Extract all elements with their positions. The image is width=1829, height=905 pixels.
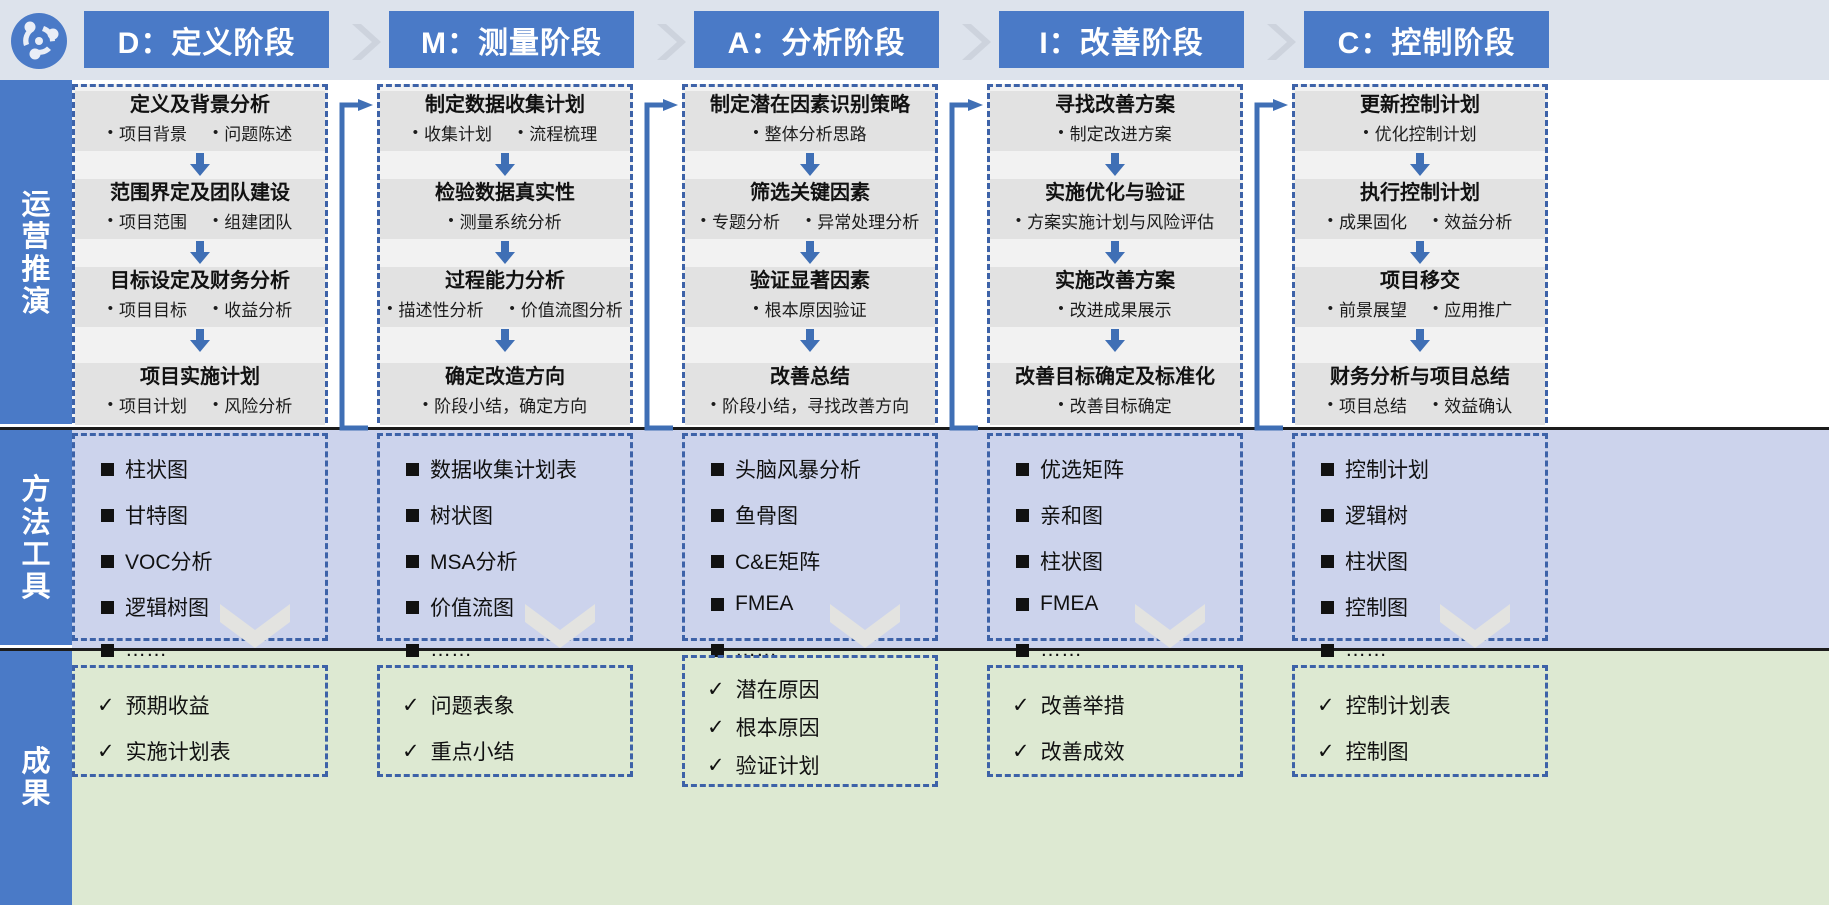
- check-icon: ✓: [707, 715, 725, 740]
- step-subitems: •项目总结•效益确认: [1295, 392, 1545, 417]
- step-subitems: •成果固化•效益分析: [1295, 208, 1545, 233]
- step-subitems: •阶段小结，确定方向: [380, 392, 630, 417]
- tool-label: 柱状图: [1040, 546, 1103, 576]
- square-bullet-icon: [1016, 509, 1029, 522]
- phase-chevron-separator: [649, 20, 685, 56]
- dmaic-roadmap: D：定义阶段 M：测量阶段 A：分析阶段 I：改善阶段 C：控制阶段运营推演方法…: [0, 0, 1829, 905]
- down-arrow-icon: [797, 241, 823, 270]
- tool-list-item[interactable]: 柱状图: [101, 454, 188, 484]
- bullet-dot-icon: •: [448, 213, 453, 228]
- down-arrow-icon: [1102, 241, 1128, 270]
- outcome-label: 实施计划表: [126, 736, 231, 766]
- outcome-list-item[interactable]: ✓问题表象: [402, 690, 515, 720]
- step-subitem-label: 问题陈述: [224, 120, 292, 145]
- step-subitem-label: 组建团队: [224, 208, 292, 233]
- step-subitem: •整体分析思路: [753, 120, 866, 145]
- tool-list-item[interactable]: 柱状图: [1016, 546, 1103, 576]
- step-subitem-label: 应用推广: [1444, 296, 1512, 321]
- tool-label: 柱状图: [125, 454, 188, 484]
- step-subitem: •成果固化: [1328, 208, 1407, 233]
- tool-list-item[interactable]: ……: [1016, 638, 1082, 662]
- bullet-dot-icon: •: [753, 125, 758, 140]
- step-subitem: •项目总结: [1328, 392, 1407, 417]
- row-label-methods-tools: 方法工具: [0, 430, 72, 648]
- square-bullet-icon: [101, 601, 114, 614]
- square-bullet-icon: [101, 644, 114, 657]
- down-arrow-icon: [492, 329, 518, 358]
- down-arrow-icon: [187, 329, 213, 358]
- outcome-label: 重点小结: [431, 736, 515, 766]
- step-subitem: •前景展望: [1328, 296, 1407, 321]
- step-subitem: •问题陈述: [213, 120, 292, 145]
- bullet-dot-icon: •: [108, 125, 113, 140]
- tool-list-item[interactable]: VOC分析: [101, 546, 213, 576]
- step-subitem-label: 整体分析思路: [765, 120, 867, 145]
- bullet-dot-icon: •: [1433, 301, 1438, 316]
- phase-chevron-separator: [1259, 20, 1295, 56]
- tool-label: FMEA: [1040, 592, 1098, 616]
- step-card[interactable]: 确定改造方向•阶段小结，确定方向: [380, 363, 630, 425]
- outcome-list-item[interactable]: ✓验证计划: [707, 750, 820, 780]
- step-subitem-label: 流程梳理: [529, 120, 597, 145]
- bullet-dot-icon: •: [518, 125, 523, 140]
- tool-list-item[interactable]: 柱状图: [1321, 546, 1408, 576]
- step-subitem-label: 方案实施计划与风险评估: [1027, 208, 1214, 233]
- tool-label: 优选矩阵: [1040, 454, 1124, 484]
- tool-label: C&E矩阵: [735, 546, 820, 576]
- square-bullet-icon: [1016, 598, 1029, 611]
- step-subitem-label: 收益分析: [224, 296, 292, 321]
- tool-list-item[interactable]: 鱼骨图: [711, 500, 798, 530]
- outcome-list-item[interactable]: ✓预期收益: [97, 690, 210, 720]
- phase-header-measure[interactable]: M：测量阶段: [389, 11, 634, 68]
- tool-list-item[interactable]: 价值流图: [406, 592, 514, 622]
- outcome-label: 预期收益: [126, 690, 210, 720]
- step-title: 财务分析与项目总结: [1295, 366, 1545, 388]
- step-title: 定义及背景分析: [75, 94, 325, 116]
- step-subitem-label: 测量系统分析: [460, 208, 562, 233]
- tool-list-item[interactable]: 甘特图: [101, 500, 188, 530]
- step-subitem-label: 阶段小结，寻找改善方向: [722, 392, 909, 417]
- down-arrow-icon: [1407, 329, 1433, 358]
- outcome-list-item[interactable]: ✓实施计划表: [97, 736, 231, 766]
- step-subitem: •阶段小结，确定方向: [423, 392, 587, 417]
- step-subitem-label: 效益确认: [1444, 392, 1512, 417]
- step-subitem-label: 改善目标确定: [1070, 392, 1172, 417]
- step-subitem: •收集计划: [413, 120, 492, 145]
- step-subitem: •项目背景: [108, 120, 187, 145]
- step-card[interactable]: 过程能力分析•描述性分析•价值流图分析: [380, 267, 630, 327]
- phase-header-control[interactable]: C：控制阶段: [1304, 11, 1549, 68]
- bullet-dot-icon: •: [510, 301, 515, 316]
- step-title: 验证显著因素: [685, 270, 935, 292]
- outcomes-band: [72, 651, 1829, 905]
- step-subitems: •前景展望•应用推广: [1295, 296, 1545, 321]
- step-subitems: •描述性分析•价值流图分析: [380, 296, 630, 321]
- tool-label: 树状图: [430, 500, 493, 530]
- phase-connector-arrow: [1243, 99, 1292, 439]
- tool-list-item[interactable]: 树状图: [406, 500, 493, 530]
- phase-chevron-separator: [344, 20, 380, 56]
- step-card[interactable]: 检验数据真实性•测量系统分析: [380, 179, 630, 239]
- down-arrow-icon: [1407, 153, 1433, 182]
- step-title: 执行控制计划: [1295, 182, 1545, 204]
- down-arrow-icon: [797, 153, 823, 182]
- tool-label: 头脑风暴分析: [735, 454, 861, 484]
- tool-label: 鱼骨图: [735, 500, 798, 530]
- step-title: 制定数据收集计划: [380, 94, 630, 116]
- methods-tools-band: [72, 430, 1829, 648]
- square-bullet-icon: [1321, 644, 1334, 657]
- step-card[interactable]: 寻找改善方案•制定改进方案: [990, 91, 1240, 151]
- step-card[interactable]: 制定潜在因素识别策略•整体分析思路: [685, 91, 935, 151]
- tool-list-item[interactable]: 亲和图: [1016, 500, 1103, 530]
- step-card[interactable]: 定义及背景分析•项目背景•问题陈述: [75, 91, 325, 151]
- step-card[interactable]: 目标设定及财务分析•项目目标•收益分析: [75, 267, 325, 327]
- outcome-list-item[interactable]: ✓潜在原因: [707, 674, 820, 704]
- step-title: 改善总结: [685, 366, 935, 388]
- step-subitem-label: 价值流图分析: [521, 296, 623, 321]
- ops-column-measure: 制定数据收集计划•收集计划•流程梳理 检验数据真实性•测量系统分析 过程能力分析…: [377, 84, 633, 423]
- tool-label: 价值流图: [430, 592, 514, 622]
- row-label-text: 成果: [20, 746, 52, 811]
- square-bullet-icon: [711, 509, 724, 522]
- square-bullet-icon: [1016, 644, 1029, 657]
- tool-label: 亲和图: [1040, 500, 1103, 530]
- check-icon: ✓: [97, 693, 115, 718]
- tool-list-item[interactable]: ……: [101, 638, 167, 662]
- sidebar-divider: [0, 424, 72, 427]
- square-bullet-icon: [406, 601, 419, 614]
- step-subitem-label: 阶段小结，确定方向: [434, 392, 587, 417]
- outcome-label: 根本原因: [736, 712, 820, 742]
- step-subitem: •改进成果展示: [1058, 296, 1171, 321]
- step-card[interactable]: 改善目标确定及标准化•改善目标确定: [990, 363, 1240, 425]
- square-bullet-icon: [1321, 555, 1334, 568]
- step-subitem: •效益分析: [1433, 208, 1512, 233]
- outcome-label: 潜在原因: [736, 674, 820, 704]
- square-bullet-icon: [711, 555, 724, 568]
- step-card[interactable]: 执行控制计划•成果固化•效益分析: [1295, 179, 1545, 239]
- step-subitem: •价值流图分析: [510, 296, 623, 321]
- tool-label: 逻辑树: [1345, 500, 1408, 530]
- step-subitem-label: 风险分析: [224, 392, 292, 417]
- ops-column-define: 定义及背景分析•项目背景•问题陈述 范围界定及团队建设•项目范围•组建团队 目标…: [72, 84, 328, 423]
- down-arrow-icon: [797, 329, 823, 358]
- step-title: 寻找改善方案: [990, 94, 1240, 116]
- down-arrow-icon: [1102, 153, 1128, 182]
- check-icon: ✓: [1012, 739, 1030, 764]
- tool-list-item[interactable]: C&E矩阵: [711, 546, 820, 576]
- square-bullet-icon: [101, 463, 114, 476]
- outcome-list-item[interactable]: ✓控制计划表: [1317, 690, 1451, 720]
- tool-list-item[interactable]: 头脑风暴分析: [711, 454, 861, 484]
- square-bullet-icon: [1321, 601, 1334, 614]
- down-arrow-icon: [187, 153, 213, 182]
- band-transition-chevron: [220, 604, 290, 657]
- ops-column-improve: 寻找改善方案•制定改进方案 实施优化与验证•方案实施计划与风险评估 实施改善方案…: [987, 84, 1243, 423]
- phase-header-bar: D：定义阶段 M：测量阶段 A：分析阶段 I：改善阶段 C：控制阶段: [0, 0, 1829, 80]
- square-bullet-icon: [406, 463, 419, 476]
- bullet-dot-icon: •: [1433, 397, 1438, 412]
- outcomes-column-define: ✓预期收益✓实施计划表: [72, 665, 328, 777]
- step-subitem: •专题分析: [701, 208, 780, 233]
- square-bullet-icon: [1016, 555, 1029, 568]
- step-card[interactable]: 更新控制计划•优化控制计划: [1295, 91, 1545, 151]
- step-subitem: •优化控制计划: [1363, 120, 1476, 145]
- check-icon: ✓: [707, 753, 725, 778]
- step-subitem: •异常处理分析: [806, 208, 919, 233]
- step-card[interactable]: 实施改善方案•改进成果展示: [990, 267, 1240, 327]
- bullet-dot-icon: •: [1058, 301, 1063, 316]
- outcome-list-item[interactable]: ✓改善成效: [1012, 736, 1125, 766]
- step-subitem: •根本原因验证: [753, 296, 866, 321]
- step-subitem: •制定改进方案: [1058, 120, 1171, 145]
- phase-header-define[interactable]: D：定义阶段: [84, 11, 329, 68]
- square-bullet-icon: [711, 463, 724, 476]
- step-title: 制定潜在因素识别策略: [685, 94, 935, 116]
- step-title: 检验数据真实性: [380, 182, 630, 204]
- step-subitem-label: 制定改进方案: [1070, 120, 1172, 145]
- outcome-label: 验证计划: [736, 750, 820, 780]
- square-bullet-icon: [1016, 463, 1029, 476]
- tool-list-item[interactable]: 优选矩阵: [1016, 454, 1124, 484]
- tool-label: 甘特图: [125, 500, 188, 530]
- bullet-dot-icon: •: [413, 125, 418, 140]
- step-title: 筛选关键因素: [685, 182, 935, 204]
- outcomes-column-improve: ✓改善举措✓改善成效: [987, 665, 1243, 777]
- tool-label: ……: [430, 638, 472, 662]
- phase-header-label: M：测量阶段: [421, 18, 602, 62]
- tool-list-item[interactable]: FMEA: [1016, 592, 1098, 616]
- bullet-dot-icon: •: [1363, 125, 1368, 140]
- step-subitem: •项目范围: [108, 208, 187, 233]
- bullet-dot-icon: •: [108, 301, 113, 316]
- step-subitems: •根本原因验证: [685, 296, 935, 321]
- square-bullet-icon: [711, 598, 724, 611]
- bullet-dot-icon: •: [213, 301, 218, 316]
- tool-label: ……: [1040, 638, 1082, 662]
- step-subitem: •收益分析: [213, 296, 292, 321]
- down-arrow-icon: [187, 241, 213, 270]
- square-bullet-icon: [101, 555, 114, 568]
- step-subitems: •项目目标•收益分析: [75, 296, 325, 321]
- bullet-dot-icon: •: [1328, 213, 1333, 228]
- outcomes-column-control: ✓控制计划表✓控制图: [1292, 665, 1548, 777]
- step-subitems: •改善目标确定: [990, 392, 1240, 417]
- phase-header-label: A：分析阶段: [728, 18, 906, 62]
- step-card[interactable]: 实施优化与验证•方案实施计划与风险评估: [990, 179, 1240, 239]
- bullet-dot-icon: •: [1058, 125, 1063, 140]
- step-card[interactable]: 筛选关键因素•专题分析•异常处理分析: [685, 179, 935, 239]
- phase-connector-arrow: [938, 99, 987, 439]
- step-subitems: •项目背景•问题陈述: [75, 120, 325, 145]
- tool-list-item[interactable]: FMEA: [711, 592, 793, 616]
- step-title: 改善目标确定及标准化: [990, 366, 1240, 388]
- down-arrow-icon: [1407, 241, 1433, 270]
- outcomes-column-analyze: ✓潜在原因✓根本原因✓验证计划: [682, 655, 938, 787]
- step-subitems: •测量系统分析: [380, 208, 630, 233]
- step-subitem: •流程梳理: [518, 120, 597, 145]
- step-card[interactable]: 财务分析与项目总结•项目总结•效益确认: [1295, 363, 1545, 425]
- step-subitem-label: 收集计划: [424, 120, 492, 145]
- band-divider: [0, 427, 1829, 430]
- check-icon: ✓: [707, 677, 725, 702]
- recycle-process-logo-icon: [8, 10, 70, 72]
- outcome-label: 控制图: [1346, 736, 1409, 766]
- tool-label: 柱状图: [1345, 546, 1408, 576]
- step-subitem: •测量系统分析: [448, 208, 561, 233]
- bullet-dot-icon: •: [806, 213, 811, 228]
- bullet-dot-icon: •: [213, 397, 218, 412]
- step-card[interactable]: 项目移交•前景展望•应用推广: [1295, 267, 1545, 327]
- outcome-list-item[interactable]: ✓控制图: [1317, 736, 1409, 766]
- step-subitem-label: 异常处理分析: [817, 208, 919, 233]
- band-transition-chevron: [525, 604, 595, 657]
- outcome-label: 问题表象: [431, 690, 515, 720]
- down-arrow-icon: [492, 153, 518, 182]
- tool-list-item[interactable]: ……: [1321, 638, 1387, 662]
- step-subitem: •方案实施计划与风险评估: [1016, 208, 1214, 233]
- step-card[interactable]: 改善总结•阶段小结，寻找改善方向: [685, 363, 935, 425]
- step-title: 更新控制计划: [1295, 94, 1545, 116]
- tool-label: FMEA: [735, 592, 793, 616]
- step-subitem: •阶段小结，寻找改善方向: [711, 392, 909, 417]
- square-bullet-icon: [406, 509, 419, 522]
- step-card[interactable]: 项目实施计划•项目计划•风险分析: [75, 363, 325, 425]
- step-subitems: •制定改进方案: [990, 120, 1240, 145]
- phase-header-label: D：定义阶段: [118, 18, 296, 62]
- step-subitem: •项目计划: [108, 392, 187, 417]
- step-subitem-label: 项目背景: [119, 120, 187, 145]
- tool-label: 逻辑树图: [125, 592, 209, 622]
- step-card[interactable]: 范围界定及团队建设•项目范围•组建团队: [75, 179, 325, 239]
- step-subitem: •效益确认: [1433, 392, 1512, 417]
- step-subitems: •专题分析•异常处理分析: [685, 208, 935, 233]
- step-subitem-label: 根本原因验证: [765, 296, 867, 321]
- bullet-dot-icon: •: [1328, 397, 1333, 412]
- step-subitem-label: 专题分析: [712, 208, 780, 233]
- step-title: 范围界定及团队建设: [75, 182, 325, 204]
- tool-list-item[interactable]: ……: [406, 638, 472, 662]
- square-bullet-icon: [406, 555, 419, 568]
- outcome-label: 改善成效: [1041, 736, 1125, 766]
- step-subitem-label: 项目范围: [119, 208, 187, 233]
- step-subitem-label: 优化控制计划: [1375, 120, 1477, 145]
- ops-column-control: 更新控制计划•优化控制计划 执行控制计划•成果固化•效益分析 项目移交•前景展望…: [1292, 84, 1548, 423]
- step-subitems: •项目范围•组建团队: [75, 208, 325, 233]
- tool-label: 控制图: [1345, 592, 1408, 622]
- square-bullet-icon: [406, 644, 419, 657]
- step-subitems: •优化控制计划: [1295, 120, 1545, 145]
- outcomes-column-measure: ✓问题表象✓重点小结: [377, 665, 633, 777]
- square-bullet-icon: [101, 509, 114, 522]
- phase-connector-arrow: [633, 99, 682, 439]
- step-title: 项目实施计划: [75, 366, 325, 388]
- phase-header-label: I：改善阶段: [1039, 18, 1203, 62]
- band-transition-chevron: [1135, 604, 1205, 657]
- tool-label: MSA分析: [430, 546, 518, 576]
- step-subitem: •组建团队: [213, 208, 292, 233]
- step-subitem-label: 项目计划: [119, 392, 187, 417]
- down-arrow-icon: [492, 241, 518, 270]
- square-bullet-icon: [1321, 463, 1334, 476]
- outcome-list-item[interactable]: ✓根本原因: [707, 712, 820, 742]
- outcome-list-item[interactable]: ✓重点小结: [402, 736, 515, 766]
- step-title: 过程能力分析: [380, 270, 630, 292]
- bullet-dot-icon: •: [753, 301, 758, 316]
- step-title: 目标设定及财务分析: [75, 270, 325, 292]
- step-subitem-label: 效益分析: [1444, 208, 1512, 233]
- phase-header-improve[interactable]: I：改善阶段: [999, 11, 1244, 68]
- step-subitem-label: 成果固化: [1339, 208, 1407, 233]
- tool-list-item[interactable]: 数据收集计划表: [406, 454, 577, 484]
- down-arrow-icon: [1102, 329, 1128, 358]
- step-subitem-label: 前景展望: [1339, 296, 1407, 321]
- band-transition-chevron: [830, 604, 900, 657]
- bullet-dot-icon: •: [1058, 397, 1063, 412]
- row-label-text: 方法工具: [20, 474, 52, 604]
- row-label-operations: 运营推演: [0, 80, 72, 427]
- tool-list-item[interactable]: 逻辑树图: [101, 592, 209, 622]
- step-card[interactable]: 验证显著因素•根本原因验证: [685, 267, 935, 327]
- step-subitem: •风险分析: [213, 392, 292, 417]
- step-subitems: •项目计划•风险分析: [75, 392, 325, 417]
- step-subitem: •应用推广: [1433, 296, 1512, 321]
- tool-list-item[interactable]: MSA分析: [406, 546, 518, 576]
- phase-header-analyze[interactable]: A：分析阶段: [694, 11, 939, 68]
- step-title: 实施改善方案: [990, 270, 1240, 292]
- check-icon: ✓: [1317, 739, 1335, 764]
- bullet-dot-icon: •: [108, 397, 113, 412]
- ops-column-analyze: 制定潜在因素识别策略•整体分析思路 筛选关键因素•专题分析•异常处理分析 验证显…: [682, 84, 938, 423]
- step-card[interactable]: 制定数据收集计划•收集计划•流程梳理: [380, 91, 630, 151]
- bullet-dot-icon: •: [423, 397, 428, 412]
- bullet-dot-icon: •: [1016, 213, 1021, 228]
- outcome-label: 控制计划表: [1346, 690, 1451, 720]
- bullet-dot-icon: •: [387, 301, 392, 316]
- square-bullet-icon: [1321, 509, 1334, 522]
- outcome-list-item[interactable]: ✓改善举措: [1012, 690, 1125, 720]
- step-subitem-label: 项目总结: [1339, 392, 1407, 417]
- bullet-dot-icon: •: [711, 397, 716, 412]
- step-subitems: •整体分析思路: [685, 120, 935, 145]
- bullet-dot-icon: •: [701, 213, 706, 228]
- check-icon: ✓: [402, 739, 420, 764]
- tool-list-item[interactable]: 控制图: [1321, 592, 1408, 622]
- step-subitems: •阶段小结，寻找改善方向: [685, 392, 935, 417]
- step-subitem: •项目目标: [108, 296, 187, 321]
- bullet-dot-icon: •: [108, 213, 113, 228]
- row-label-outcomes: 成果: [0, 651, 72, 905]
- tool-label: ……: [1345, 638, 1387, 662]
- row-label-text: 运营推演: [20, 189, 52, 319]
- bullet-dot-icon: •: [213, 213, 218, 228]
- step-title: 项目移交: [1295, 270, 1545, 292]
- step-subitem: •改善目标确定: [1058, 392, 1171, 417]
- phase-chevron-separator: [954, 20, 990, 56]
- outcome-label: 改善举措: [1041, 690, 1125, 720]
- step-subitem-label: 描述性分析: [399, 296, 484, 321]
- tool-label: 控制计划: [1345, 454, 1429, 484]
- tool-list-item[interactable]: 逻辑树: [1321, 500, 1408, 530]
- bullet-dot-icon: •: [1433, 213, 1438, 228]
- tool-list-item[interactable]: 控制计划: [1321, 454, 1429, 484]
- bullet-dot-icon: •: [1328, 301, 1333, 316]
- check-icon: ✓: [1012, 693, 1030, 718]
- check-icon: ✓: [1317, 693, 1335, 718]
- tool-label: 数据收集计划表: [430, 454, 577, 484]
